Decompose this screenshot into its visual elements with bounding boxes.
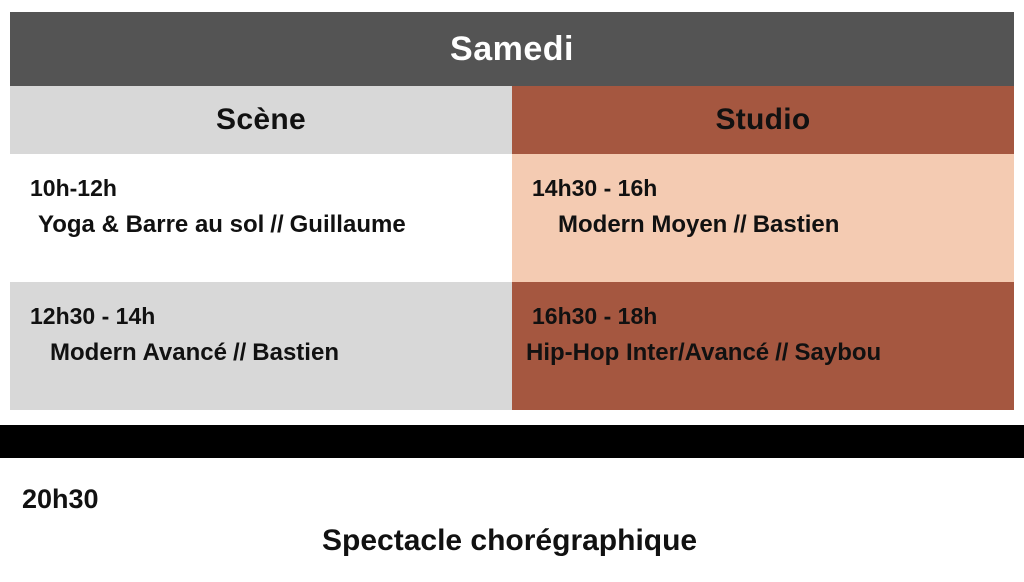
slot-scene-2-detail: Modern Avancé//Bastien <box>50 339 498 368</box>
room-header-scene-label: Scène <box>216 103 306 137</box>
slot-studio-2[interactable]: 16h30 - 18h Hip-Hop Inter/Avancé//Saybou <box>512 282 1014 410</box>
evening-show-time: 20h30 <box>22 484 99 515</box>
slot-scene-1-separator: // <box>264 211 289 238</box>
slot-studio-1-class: Modern Moyen <box>558 211 727 238</box>
slot-studio-1-separator: // <box>727 211 752 238</box>
slot-studio-2-teacher: Saybou <box>794 339 881 366</box>
slot-studio-2-detail: Hip-Hop Inter/Avancé//Saybou <box>526 339 1000 368</box>
room-header-studio-label: Studio <box>715 103 810 137</box>
room-header-studio: Studio <box>512 86 1014 154</box>
room-header-scene: Scène <box>10 86 512 154</box>
schedule-row-2: 12h30 - 14h Modern Avancé//Bastien 16h30… <box>10 282 1014 410</box>
slot-scene-2[interactable]: 12h30 - 14h Modern Avancé//Bastien <box>10 282 512 410</box>
day-header: Samedi <box>10 12 1014 86</box>
room-header-row: Scène Studio <box>10 86 1014 154</box>
evening-show-title: Spectacle chorégraphique <box>322 524 697 558</box>
slot-scene-2-separator: // <box>227 339 252 366</box>
slot-scene-1-teacher: Guillaume <box>290 211 406 238</box>
section-divider <box>0 425 1024 458</box>
schedule-row-1: 10h-12h Yoga & Barre au sol//Guillaume 1… <box>10 154 1014 282</box>
slot-studio-1-detail: Modern Moyen//Bastien <box>558 211 1000 240</box>
slot-scene-2-time: 12h30 - 14h <box>30 304 498 329</box>
slot-studio-1[interactable]: 14h30 - 16h Modern Moyen//Bastien <box>512 154 1014 282</box>
slot-scene-2-teacher: Bastien <box>252 339 339 366</box>
slot-scene-1[interactable]: 10h-12h Yoga & Barre au sol//Guillaume <box>10 154 512 282</box>
slot-studio-2-time: 16h30 - 18h <box>532 304 1000 329</box>
slot-scene-1-class: Yoga & Barre au sol <box>38 211 264 238</box>
slot-studio-1-time: 14h30 - 16h <box>532 176 1000 201</box>
slot-studio-2-class: Hip-Hop Inter/Avancé <box>526 339 769 366</box>
slot-scene-2-class: Modern Avancé <box>50 339 227 366</box>
evening-show-section: 20h30 Spectacle chorégraphique <box>0 458 1024 582</box>
day-header-title: Samedi <box>450 30 574 69</box>
slot-studio-2-separator: // <box>769 339 794 366</box>
schedule-table: Samedi Scène Studio 10h-12h Yoga & Barre… <box>10 12 1014 410</box>
slot-scene-1-detail: Yoga & Barre au sol//Guillaume <box>38 211 498 240</box>
slot-scene-1-time: 10h-12h <box>30 176 498 201</box>
slot-studio-1-teacher: Bastien <box>753 211 840 238</box>
